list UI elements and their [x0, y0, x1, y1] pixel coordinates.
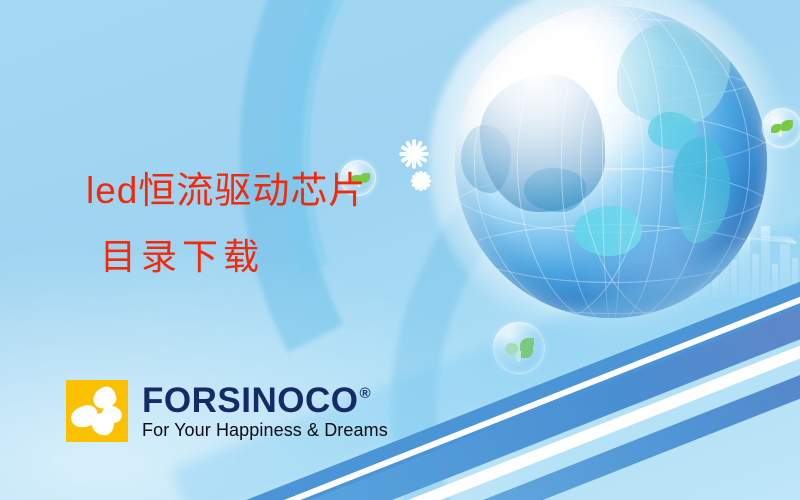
headline-line-2: 目录下载	[100, 228, 366, 286]
headline-line-1: led恒流驱动芯片	[86, 162, 366, 220]
registered-trademark-icon: ®	[359, 386, 371, 401]
logo-wordmark: FORSINOCO ®	[142, 383, 388, 418]
eco-bubble	[493, 322, 545, 374]
skyline-building	[792, 258, 798, 298]
logo-mark-icon	[66, 380, 128, 442]
skyline-building	[780, 244, 790, 298]
green-windmill-icon	[521, 347, 533, 358]
logo-name-text: FORSINOCO	[142, 383, 358, 418]
company-logo[interactable]: FORSINOCO ® For Your Happiness & Dreams	[66, 380, 388, 442]
eco-bubble	[762, 108, 800, 148]
promo-banner: led恒流驱动芯片 目录下载 FORSINOCO ® For Your Happ…	[0, 0, 800, 500]
green-windmill-icon	[505, 343, 518, 355]
globe-sphere	[455, 6, 767, 318]
banner-headline: led恒流驱动芯片 目录下载	[86, 162, 366, 286]
logo-tagline: For Your Happiness & Dreams	[142, 420, 388, 440]
world-globe	[455, 6, 767, 318]
globe-rim	[455, 6, 767, 318]
logo-text-block: FORSINOCO ® For Your Happiness & Dreams	[142, 383, 388, 440]
green-leaf-icon	[781, 120, 793, 131]
skyline-building	[772, 264, 778, 298]
